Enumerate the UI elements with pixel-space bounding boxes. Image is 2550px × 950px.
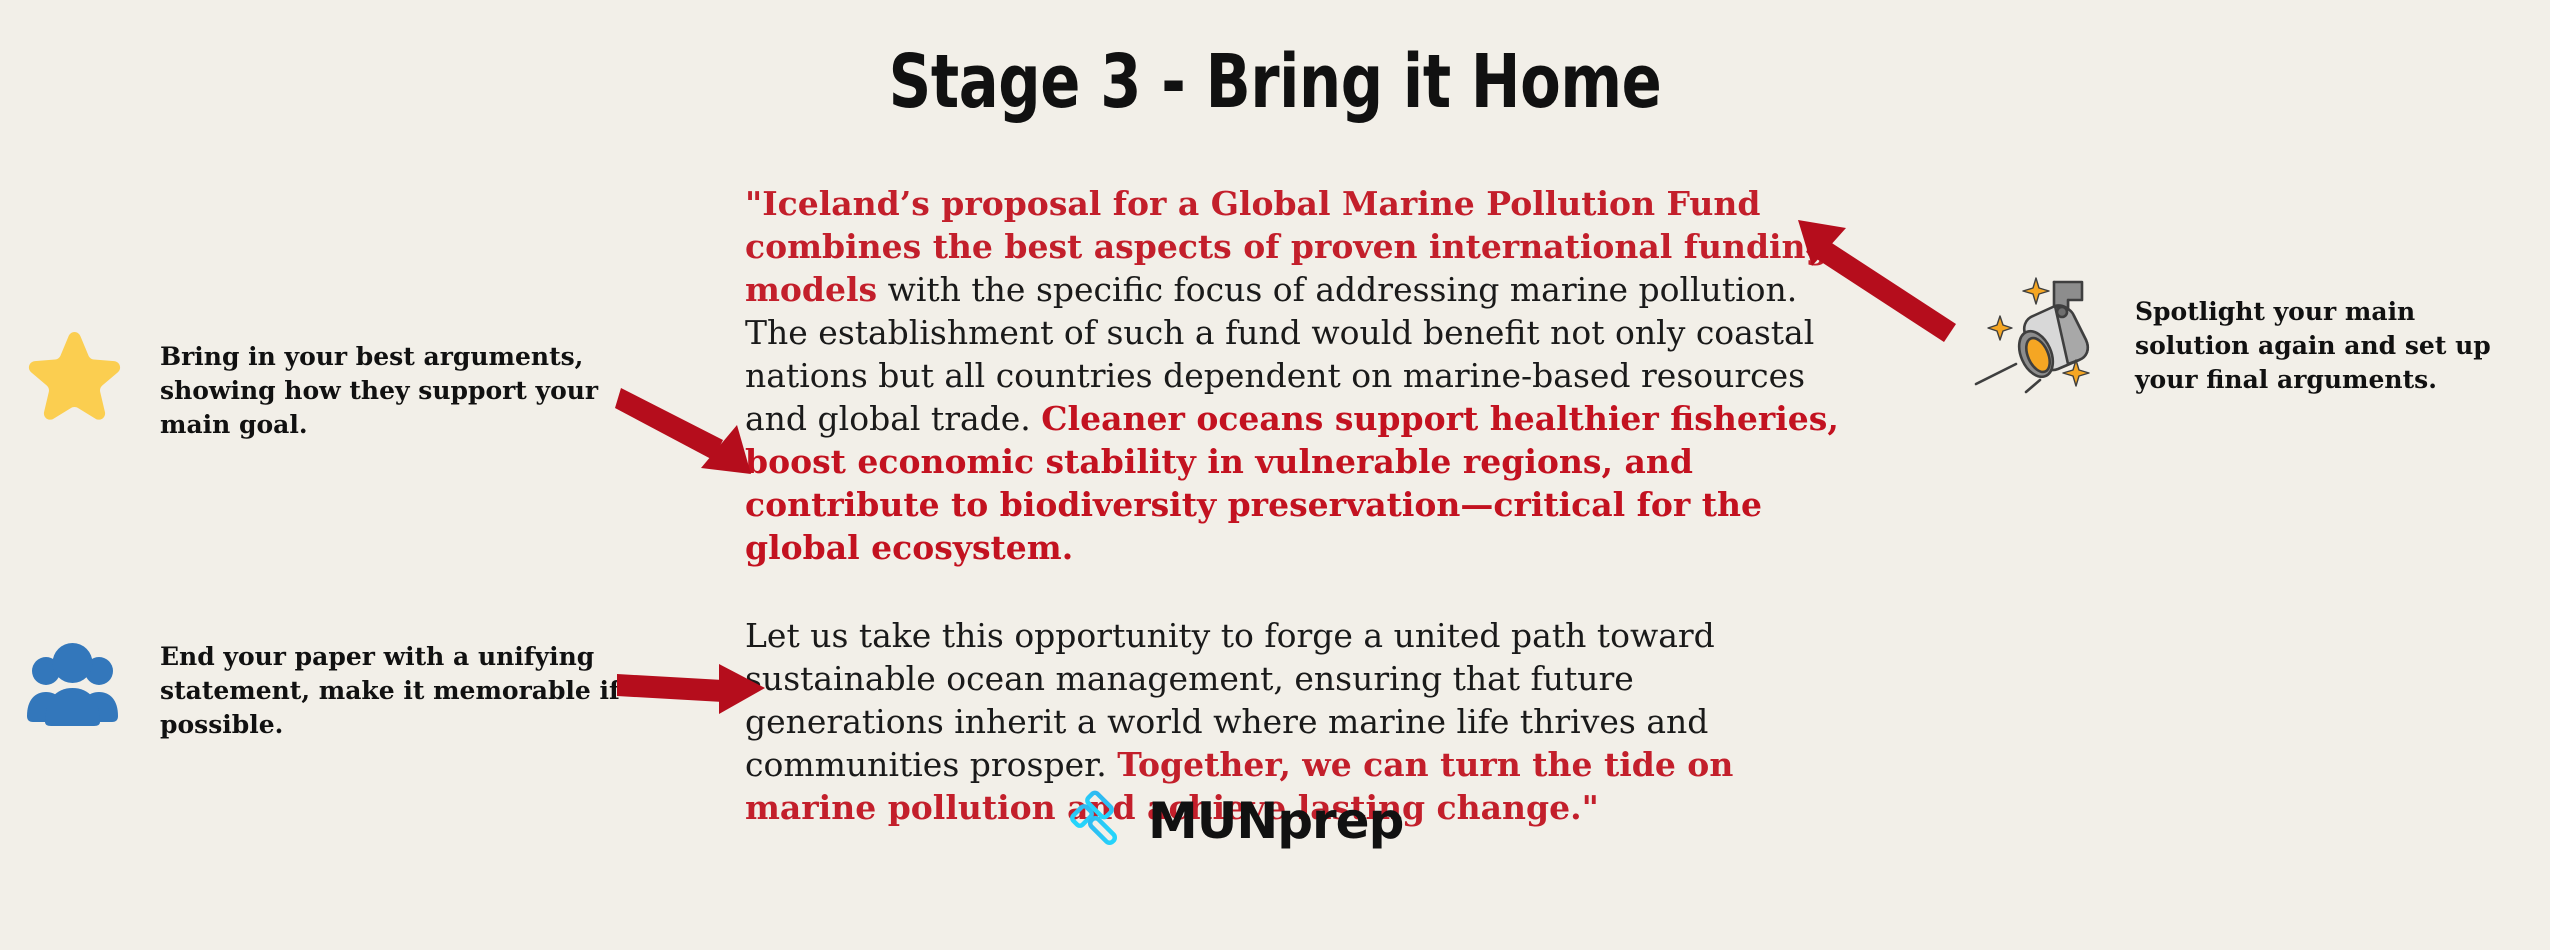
gavel-icon <box>1070 790 1132 852</box>
logo-text: MUNprep <box>1148 796 1403 846</box>
spotlight-icon <box>1958 262 2108 392</box>
people-group-icon <box>25 638 120 726</box>
annotation-unifying-statement: End your paper with a unifying statement… <box>160 640 630 742</box>
page-title: Stage 3 - Bring it Home <box>255 45 2295 119</box>
arrow-to-paragraph-2 <box>615 660 775 720</box>
arrow-to-paragraph-1 <box>615 378 775 478</box>
star-icon <box>22 322 127 427</box>
main-text-column: "Iceland’s proposal for a Global Marine … <box>745 182 1840 829</box>
annotation-spotlight-solution: Spotlight your main solution again and s… <box>2135 295 2535 397</box>
slide-canvas: Stage 3 - Bring it Home "Iceland’s propo… <box>0 0 2550 950</box>
munprep-logo: MUNprep <box>1070 790 1403 852</box>
arrow-to-spotlight-text <box>1778 212 1958 332</box>
annotation-best-arguments: Bring in your best arguments, showing ho… <box>160 340 600 442</box>
paragraph-1: "Iceland’s proposal for a Global Marine … <box>745 182 1840 569</box>
